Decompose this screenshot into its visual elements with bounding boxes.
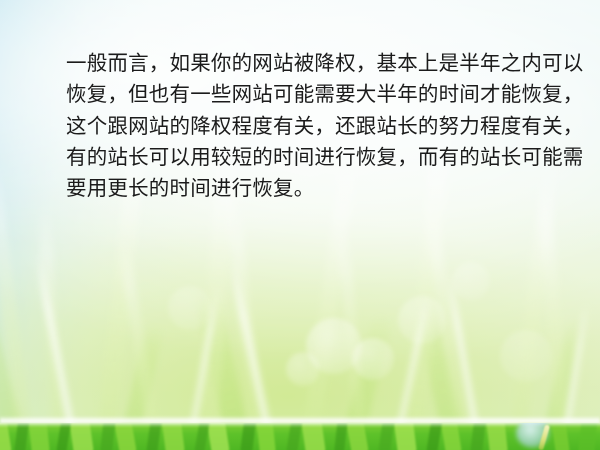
bokeh-circle bbox=[168, 286, 212, 330]
text-line: 这个跟网站的降权程度有关，还跟站长的努力程度有关， bbox=[66, 111, 540, 142]
grass-blade bbox=[537, 180, 570, 450]
bokeh-circle bbox=[352, 338, 394, 380]
grass-blade bbox=[423, 197, 471, 450]
bokeh-circle bbox=[286, 352, 320, 386]
text-line: 有的站长可以用较短的时间进行恢复，而有的站长可能需 bbox=[66, 142, 540, 173]
text-line: 恢复，但也有一些网站可能需要大半年的时间才能恢复， bbox=[66, 79, 540, 110]
grass-seam-highlight bbox=[0, 416, 600, 423]
grass-blade bbox=[37, 200, 67, 450]
bokeh-circle bbox=[398, 296, 446, 344]
slide-canvas: 一般而言，如果你的网站被降权，基本上是半年之内可以 恢复，但也有一些网站可能需要… bbox=[0, 0, 600, 450]
body-text-block: 一般而言，如果你的网站被降权，基本上是半年之内可以 恢复，但也有一些网站可能需要… bbox=[66, 48, 540, 204]
text-line: 要用更长的时间进行恢复。 bbox=[66, 173, 540, 204]
text-line: 一般而言，如果你的网站被降权，基本上是半年之内可以 bbox=[66, 48, 540, 79]
grass-blade bbox=[0, 151, 34, 450]
grass-band bbox=[0, 423, 600, 450]
bokeh-circle bbox=[306, 318, 362, 374]
grass-band-highlight bbox=[0, 423, 600, 428]
grass-blade bbox=[224, 186, 266, 450]
bokeh-circle bbox=[452, 262, 490, 300]
bokeh-circle bbox=[500, 330, 552, 382]
